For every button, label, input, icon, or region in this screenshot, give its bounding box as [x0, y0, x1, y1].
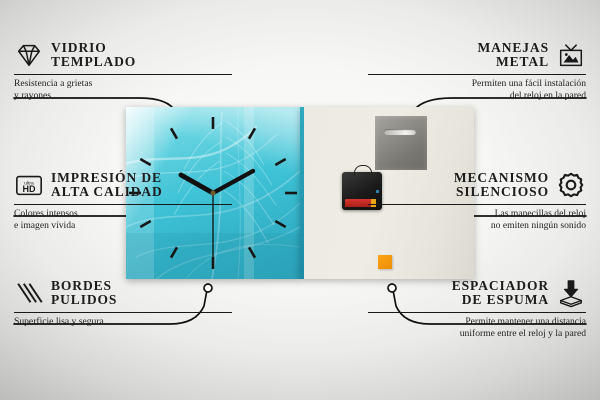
ultra-hd-big-label: HD: [23, 184, 36, 194]
ultra-hd-icon: ultra HD: [14, 170, 44, 200]
feature-header: MANEJAS METAL: [368, 40, 586, 70]
feature-description: Permite mantener una distancia uniforme …: [368, 316, 586, 339]
foam-spacer: [378, 255, 392, 269]
infographic-canvas: VIDRIO TEMPLADO Resistencia a grietas y …: [0, 0, 600, 400]
feature-header: ultra HD IMPRESIÓN DE ALTA CALIDAD: [14, 170, 232, 200]
feature-vidrio-templado: VIDRIO TEMPLADO Resistencia a grietas y …: [14, 40, 232, 101]
feature-bordes-pulidos: BORDES PULIDOS Superficie lisa y segura: [14, 278, 232, 328]
feature-title: VIDRIO TEMPLADO: [51, 41, 136, 70]
feature-description: Resistencia a grietas y rayones: [14, 78, 232, 101]
feature-description: Superficie lisa y segura: [14, 316, 232, 327]
feature-divider: [14, 312, 232, 313]
feature-description: Permiten una fácil instalación del reloj…: [368, 78, 586, 101]
feature-impresion-alta-calidad: ultra HD IMPRESIÓN DE ALTA CALIDAD Color…: [14, 170, 232, 231]
feature-header: VIDRIO TEMPLADO: [14, 40, 232, 70]
feature-title: IMPRESIÓN DE ALTA CALIDAD: [51, 171, 163, 200]
feature-header: BORDES PULIDOS: [14, 278, 232, 308]
polished-edges-icon: [14, 278, 44, 308]
feature-divider: [368, 312, 586, 313]
feature-divider: [368, 74, 586, 75]
feature-title: ESPACIADOR DE ESPUMA: [452, 279, 549, 308]
feature-header: MECANISMO SILENCIOSO: [368, 170, 586, 200]
gear-icon: [556, 170, 586, 200]
feature-divider: [368, 204, 586, 205]
feature-espaciador-espuma: ESPACIADOR DE ESPUMA Permite mantener un…: [368, 278, 586, 339]
diamond-icon: [14, 40, 44, 70]
feature-divider: [14, 74, 232, 75]
panel-edge: [300, 107, 304, 279]
feature-header: ESPACIADOR DE ESPUMA: [368, 278, 586, 308]
feature-mecanismo-silencioso: MECANISMO SILENCIOSO Las manecillas del …: [368, 170, 586, 231]
feature-divider: [14, 204, 232, 205]
feature-title: MANEJAS METAL: [477, 41, 549, 70]
foam-spacer-icon: [556, 278, 586, 308]
feature-description: Colores intensos e imagen vívida: [14, 208, 232, 231]
feature-title: BORDES PULIDOS: [51, 279, 117, 308]
metal-hanger-plate: [375, 116, 427, 170]
feature-manejas-metal: MANEJAS METAL Permiten una fácil instala…: [368, 40, 586, 101]
picture-hanger-icon: [556, 40, 586, 70]
feature-description: Las manecillas del reloj no emiten ningú…: [368, 208, 586, 231]
hanger-slot: [384, 129, 416, 135]
feature-title: MECANISMO SILENCIOSO: [454, 171, 549, 200]
